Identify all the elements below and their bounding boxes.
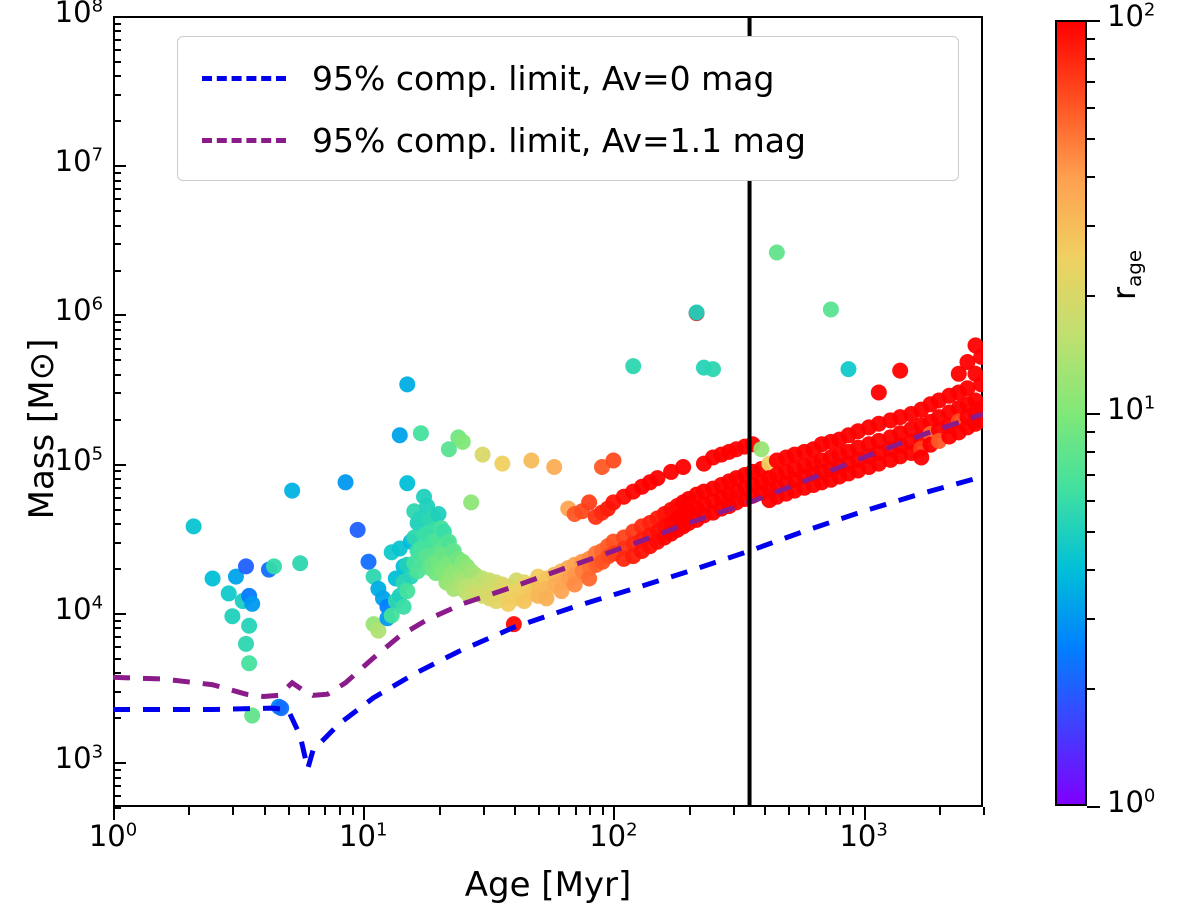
x-tick-minor — [852, 807, 854, 815]
scatter-point — [475, 447, 491, 463]
scatter-point — [546, 459, 562, 475]
colorbar-tick-minor — [1087, 225, 1095, 227]
y-tick-minor — [113, 243, 121, 245]
y-tick-minor — [113, 75, 121, 77]
scatter-point — [413, 425, 429, 441]
x-tick-minor — [232, 807, 234, 815]
y-tick-minor — [113, 672, 121, 674]
scatter-point — [913, 449, 929, 465]
x-tick-minor — [764, 807, 766, 815]
colorbar-tick-major — [1087, 413, 1100, 415]
scatter-point — [392, 427, 408, 443]
colorbar — [1055, 20, 1087, 806]
x-tick-minor — [733, 807, 735, 815]
scatter-point — [753, 441, 769, 457]
y-tick-major — [113, 16, 126, 18]
colorbar-tick-minor — [1087, 107, 1095, 109]
y-tick-minor — [113, 392, 121, 394]
colorbar-tick-minor — [1087, 474, 1095, 476]
x-tick-minor — [288, 807, 290, 815]
x-tick-minor — [439, 807, 441, 815]
scatter-point — [675, 459, 691, 475]
scatter-point — [186, 518, 202, 534]
legend-label-av0: 95% comp. limit, Av=0 mag — [312, 59, 774, 98]
x-tick-minor — [308, 807, 310, 815]
scatter-point — [399, 376, 415, 392]
y-tick-major — [113, 464, 126, 466]
y-tick-minor — [113, 359, 121, 361]
scatter-point — [705, 361, 721, 377]
y-tick-minor — [113, 30, 121, 32]
colorbar-tick-label: 101 — [1107, 395, 1155, 424]
scatter-point — [605, 452, 621, 468]
x-tick-minor — [264, 807, 266, 815]
y-tick-minor — [113, 188, 121, 190]
scatter-point — [292, 555, 308, 571]
y-tick-minor — [113, 542, 121, 544]
y-tick-label: 108 — [0, 0, 103, 27]
scatter-point — [338, 474, 354, 490]
y-tick-minor — [113, 777, 121, 779]
y-tick-minor — [113, 620, 121, 622]
x-tick-minor — [825, 807, 827, 815]
y-tick-minor — [113, 338, 121, 340]
y-tick-minor — [113, 487, 121, 489]
y-tick-minor — [113, 785, 121, 787]
scatter-point — [581, 570, 597, 586]
x-tick-label: 100 — [83, 822, 143, 851]
scatter-point — [241, 655, 257, 671]
scatter-point — [284, 483, 300, 499]
scatter-point — [244, 596, 260, 612]
y-tick-minor — [113, 61, 121, 63]
colorbar-tick-minor — [1087, 138, 1095, 140]
scatter-point — [689, 305, 705, 321]
scatter-point — [892, 363, 908, 379]
colorbar-tick-minor — [1087, 500, 1095, 502]
scatter-point — [823, 301, 839, 317]
y-tick-major — [113, 314, 126, 316]
y-tick-minor — [113, 627, 121, 629]
scatter-point — [221, 585, 237, 601]
x-tick-minor — [575, 807, 577, 815]
x-tick-minor — [602, 807, 604, 815]
y-tick-label: 104 — [0, 595, 103, 624]
colorbar-tick-major — [1087, 806, 1100, 808]
legend-swatch-av11 — [202, 138, 286, 143]
x-tick-minor — [589, 807, 591, 815]
scatter-point — [431, 506, 447, 522]
legend-label-av11: 95% comp. limit, Av=1.1 mag — [312, 121, 806, 160]
y-tick-minor — [113, 329, 121, 331]
x-tick-minor — [339, 807, 341, 815]
scatter-point — [361, 554, 377, 570]
y-tick-label: 103 — [0, 744, 103, 773]
scatter-point — [238, 558, 254, 574]
figure-canvas: 100101102103 103104105106107108 Age [Myr… — [0, 0, 1200, 917]
colorbar-tick-minor — [1087, 431, 1095, 433]
x-tick-minor — [939, 807, 941, 815]
scatter-point — [205, 570, 221, 586]
scatter-point — [769, 245, 785, 261]
legend-swatch-av0 — [202, 76, 286, 81]
colorbar-tick-minor — [1087, 38, 1095, 40]
y-tick-minor — [113, 807, 121, 809]
scatter-point — [649, 470, 665, 486]
scatter-point — [350, 522, 366, 538]
colorbar-tick-minor — [1087, 81, 1095, 83]
colorbar-title: rage — [1108, 250, 1140, 300]
y-tick-minor — [113, 717, 121, 719]
y-tick-minor — [113, 94, 121, 96]
scatter-point — [455, 434, 471, 450]
x-tick-major — [613, 807, 615, 820]
y-tick-minor — [113, 348, 121, 350]
colorbar-tick-minor — [1087, 58, 1095, 60]
y-tick-minor — [113, 120, 121, 122]
y-tick-major — [113, 165, 126, 167]
x-tick-major — [864, 807, 866, 820]
x-tick-minor — [983, 807, 985, 815]
legend-entry-av11: 95% comp. limit, Av=1.1 mag — [178, 109, 958, 171]
y-tick-minor — [113, 419, 121, 421]
y-tick-minor — [113, 225, 121, 227]
x-tick-minor — [483, 807, 485, 815]
scatter-point — [399, 475, 415, 491]
colorbar-tick-major — [1087, 20, 1100, 22]
y-tick-minor — [113, 523, 121, 525]
y-tick-minor — [113, 636, 121, 638]
x-tick-minor — [808, 807, 810, 815]
y-tick-minor — [113, 374, 121, 376]
x-axis-title: Age [Myr] — [113, 868, 983, 902]
y-tick-minor — [113, 180, 121, 182]
colorbar-tick-minor — [1087, 688, 1095, 690]
y-tick-minor — [113, 478, 121, 480]
y-tick-minor — [113, 646, 121, 648]
y-tick-minor — [113, 172, 121, 174]
scatter-point — [625, 358, 641, 374]
scatter-point — [266, 558, 282, 574]
x-tick-minor — [538, 807, 540, 815]
y-tick-minor — [113, 658, 121, 660]
y-tick-minor — [113, 470, 121, 472]
scatter-point — [523, 452, 539, 468]
x-tick-minor — [558, 807, 560, 815]
x-tick-minor — [689, 807, 691, 815]
y-tick-minor — [113, 497, 121, 499]
x-tick-major — [363, 807, 365, 820]
y-tick-major — [113, 613, 126, 615]
scatter-point — [399, 583, 415, 599]
scatter-point — [238, 636, 254, 652]
scatter-point — [840, 361, 856, 377]
colorbar-tick-minor — [1087, 618, 1095, 620]
y-tick-minor — [113, 23, 121, 25]
legend-entry-av0: 95% comp. limit, Av=0 mag — [178, 47, 958, 109]
x-tick-label: 103 — [834, 822, 894, 851]
colorbar-tick-minor — [1087, 569, 1095, 571]
y-tick-major — [113, 762, 126, 764]
colorbar-tick-minor — [1087, 176, 1095, 178]
y-tick-minor — [113, 509, 121, 511]
y-tick-minor — [113, 568, 121, 570]
colorbar-tick-label: 100 — [1107, 788, 1155, 817]
y-tick-label: 107 — [0, 147, 103, 176]
x-tick-label: 101 — [333, 822, 393, 851]
scatter-point — [538, 590, 554, 606]
scatter-point — [463, 494, 479, 510]
y-tick-minor — [113, 321, 121, 323]
y-tick-minor — [113, 270, 121, 272]
colorbar-tick-label: 102 — [1107, 2, 1155, 31]
colorbar-tick-minor — [1087, 531, 1095, 533]
colorbar-tick-minor — [1087, 451, 1095, 453]
y-tick-minor — [113, 198, 121, 200]
scatter-point — [396, 599, 412, 615]
x-tick-minor — [324, 807, 326, 815]
colorbar-gradient — [1055, 20, 1087, 806]
x-tick-minor — [788, 807, 790, 815]
y-tick-minor — [113, 795, 121, 797]
x-tick-minor — [188, 807, 190, 815]
scatter-point — [241, 618, 257, 634]
legend: 95% comp. limit, Av=0 mag 95% comp. limi… — [177, 36, 959, 181]
y-tick-minor — [113, 210, 121, 212]
y-axis-title: Mass [M⊙] — [25, 269, 59, 589]
scatter-point — [581, 494, 597, 510]
y-tick-minor — [113, 39, 121, 41]
y-tick-minor — [113, 49, 121, 51]
x-tick-label: 102 — [583, 822, 643, 851]
scatter-points-layer — [186, 245, 983, 724]
y-tick-minor — [113, 769, 121, 771]
scatter-point — [567, 576, 583, 592]
colorbar-tick-minor — [1087, 295, 1095, 297]
x-tick-minor — [352, 807, 354, 815]
x-tick-minor — [839, 807, 841, 815]
x-tick-minor — [514, 807, 516, 815]
scatter-point — [224, 608, 240, 624]
scatter-point — [871, 384, 887, 400]
y-tick-minor — [113, 691, 121, 693]
scatter-point — [494, 456, 510, 472]
